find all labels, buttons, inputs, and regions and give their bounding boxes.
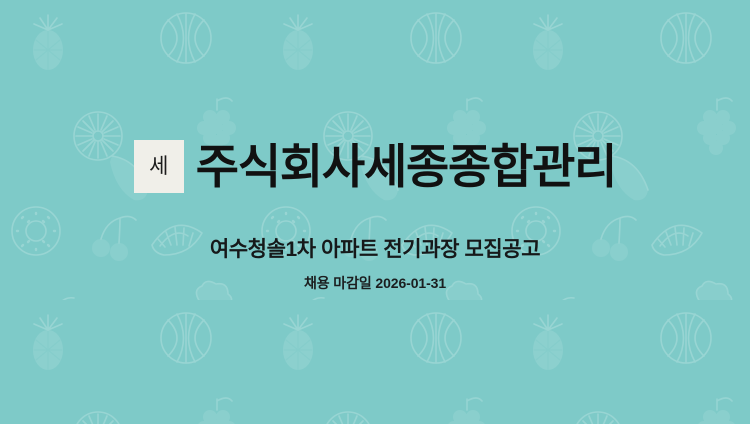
application-deadline: 채용 마감일 2026-01-31 — [0, 275, 750, 292]
company-logo-initial: 세 — [149, 156, 168, 177]
poster-content: 세 주식회사세종종합관리 여수청솔1차 아파트 전기과장 모집공고 채용 마감일… — [0, 0, 750, 424]
job-posting-title: 여수청솔1차 아파트 전기과장 모집공고 — [0, 237, 750, 262]
brand-row: 세 주식회사세종종합관리 — [0, 140, 750, 193]
company-logo-badge: 세 — [134, 140, 184, 193]
company-name: 주식회사세종종합관리 — [196, 143, 616, 190]
recruitment-poster: 세 주식회사세종종합관리 여수청솔1차 아파트 전기과장 모집공고 채용 마감일… — [0, 0, 750, 424]
